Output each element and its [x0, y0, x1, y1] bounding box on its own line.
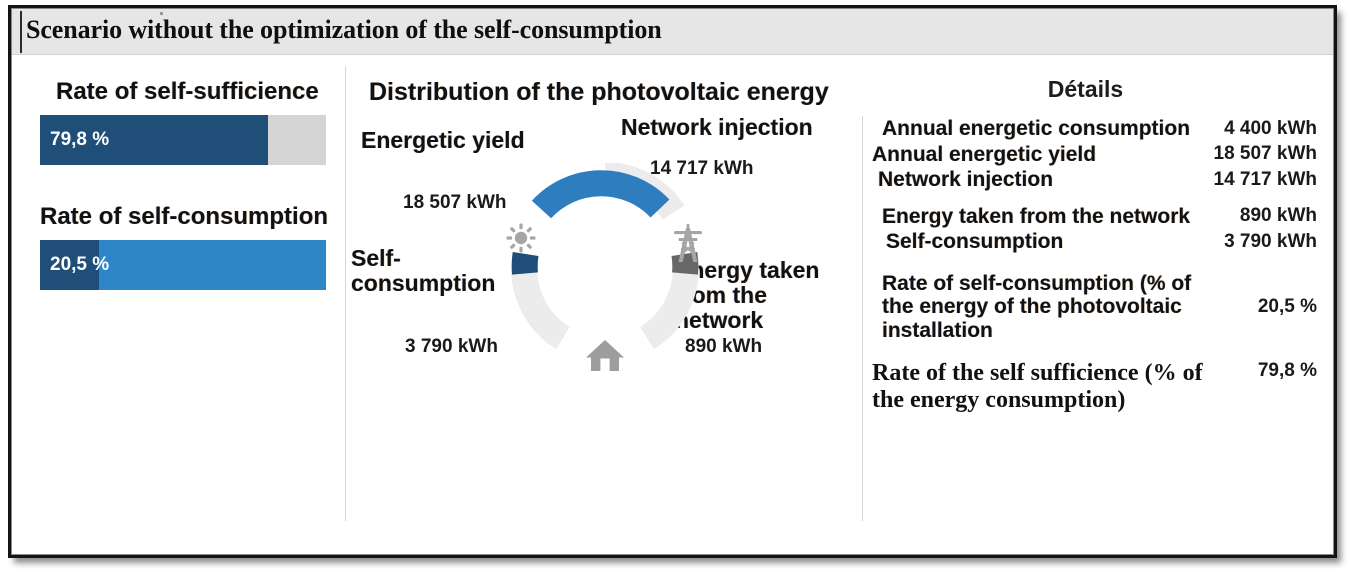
detail-label: Rate of self-consumption (% of the energ… [872, 272, 1212, 343]
detail-value: 3 790 kWh [1224, 231, 1317, 253]
details-panel: Détails Annual energetic consumption 4 4… [862, 58, 1329, 550]
gauge-self-consumption: 20,5 % [40, 240, 326, 290]
detail-value: 18 507 kWh [1214, 143, 1318, 165]
detail-label: Self-consumption [872, 230, 1063, 254]
gauge-title-self-sufficiency: Rate of self-sufficience [56, 78, 319, 106]
detail-row-annual-consumption: Annual energetic consumption 4 400 kWh [872, 116, 1317, 142]
detail-row-rate-self-sufficience: Rate of the self sufficience (% of the e… [872, 359, 1317, 415]
detail-value: 20,5 % [1258, 296, 1317, 318]
details-heading: Détails [862, 76, 1309, 103]
detail-value: 14 717 kWh [1214, 169, 1318, 191]
detail-row-annual-yield: Annual energetic yield 18 507 kWh [872, 142, 1317, 168]
gauge-self-consumption-value: 20,5 % [50, 254, 109, 276]
window-title-bar: Scenario without the optimization of the… [12, 9, 1333, 55]
detail-value: 890 kWh [1240, 205, 1317, 227]
detail-value: 4 400 kWh [1224, 118, 1317, 140]
donut-arc-left-self-consumption [525, 254, 526, 274]
page-title: Scenario without the optimization of the… [26, 15, 662, 45]
gauge-self-sufficiency: 79,8 % [40, 115, 326, 165]
detail-label: Rate of the self sufficience (% of the e… [872, 360, 1212, 414]
scenario-window: Scenario without the optimization of the… [8, 5, 1337, 558]
details-list: Annual energetic consumption 4 400 kWh A… [872, 116, 1317, 415]
detail-row-rate-self-consumption: Rate of self-consumption (% of the energ… [872, 271, 1317, 344]
window-inner-border: Scenario without the optimization of the… [11, 8, 1334, 555]
dashboard-canvas: Rate of self-sufficience 79,8 % Rate of … [16, 58, 1329, 550]
energy-flow-donut-chart [500, 163, 710, 378]
donut-arc-right-energy-taken [684, 254, 685, 274]
donut-arc-top-yield [542, 183, 661, 209]
donut-amount-energetic-yield: 18 507 kWh [403, 192, 507, 214]
donut-amount-self-consumption: 3 790 kWh [405, 336, 498, 358]
detail-label: Energy taken from the network [872, 205, 1190, 229]
distribution-heading: Distribution of the photovoltaic energy [369, 78, 829, 107]
sun-icon [507, 224, 536, 253]
distribution-panel: Distribution of the photovoltaic energy … [345, 58, 862, 550]
donut-label-network-injection: Network injection [621, 115, 813, 140]
detail-row-network-injection: Network injection 14 717 kWh [872, 167, 1317, 193]
gauges-panel: Rate of self-sufficience 79,8 % Rate of … [16, 58, 345, 550]
donut-label-self-consumption: Self-consumption [351, 246, 501, 296]
donut-label-energetic-yield: Energetic yield [361, 128, 525, 153]
detail-label: Network injection [872, 168, 1053, 192]
detail-row-self-consumption: Self-consumption 3 790 kWh [872, 229, 1317, 255]
house-icon [586, 340, 624, 371]
gauge-self-sufficiency-value: 79,8 % [50, 129, 109, 151]
detail-label: Annual energetic yield [872, 143, 1096, 167]
detail-row-energy-taken: Energy taken from the network 890 kWh [872, 204, 1317, 230]
gauge-title-self-consumption: Rate of self-consumption [40, 203, 328, 231]
detail-value: 79,8 % [1258, 360, 1317, 382]
detail-label: Annual energetic consumption [872, 117, 1190, 141]
title-bar-left-marker [20, 11, 22, 53]
